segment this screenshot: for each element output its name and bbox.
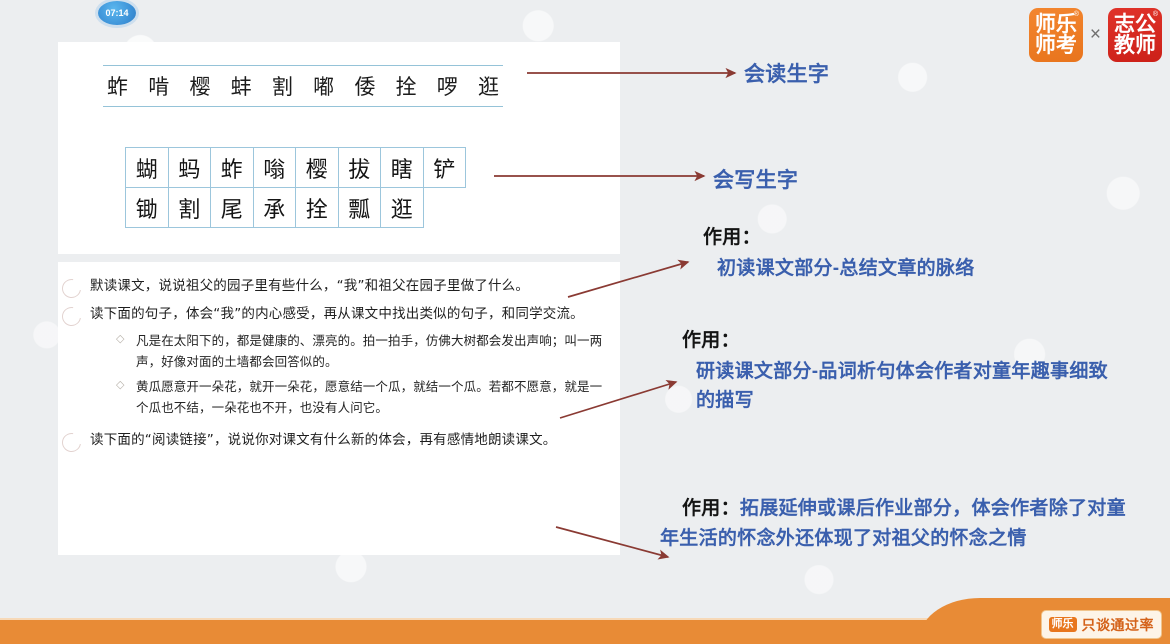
grid-cell: 拔 — [338, 147, 382, 188]
logo-right-line2: 教师 — [1114, 35, 1156, 56]
grid-row: 蝴蚂蚱嗡樱拔瞎铲 — [126, 148, 466, 188]
grid-cell: 割 — [168, 187, 212, 228]
grid-row: 锄割尾承拴瓢逛 — [126, 188, 466, 228]
grid-cell: 蝴 — [125, 147, 169, 188]
question-bullet-icon — [58, 303, 84, 329]
annotation-block-close-reading: 作用： 研读课文部分-品词析句体会作者对童年趣事细致的描写 — [682, 325, 1127, 416]
annotation-block-extension: 作用：拓展延伸或课后作业部分，体会作者除了对童年生活的怀念外还体现了对祖父的怀念… — [660, 494, 1140, 554]
read-char: 倭 — [354, 71, 375, 101]
example-sentence-text: 黄瓜愿意开一朵花，就开一朵花，愿意结一个瓜，就结一个瓜。若都不愿意，就是一个瓜也… — [136, 376, 612, 418]
logo-right-line1: 志公 — [1114, 14, 1156, 35]
grid-cell: 嗡 — [253, 147, 297, 188]
question-text: 默读课文，说说祖父的园子里有些什么，“我”和祖父在园子里做了什么。 — [90, 276, 612, 298]
bottom-badge-text: 只谈通过率 — [1082, 615, 1155, 635]
timer-badge: 07:14 — [98, 1, 136, 25]
read-char: 逛 — [478, 71, 499, 101]
read-char: 蚌 — [231, 71, 252, 101]
read-char: 嘟 — [313, 71, 334, 101]
example-sentence-text: 凡是在太阳下的，都是健康的、漂亮的。拍一拍手，仿佛大树都会发出声响；叫一两声，好… — [136, 330, 612, 372]
annotation-label: 作用： — [682, 325, 1127, 352]
logo-left-line1: 师乐 — [1035, 14, 1077, 35]
grid-cell: 瓢 — [338, 187, 382, 228]
read-char: 割 — [272, 71, 293, 101]
question-list: 默读课文，说说祖父的园子里有些什么，“我”和祖父在园子里做了什么。读下面的句子，… — [62, 276, 612, 458]
annotation-write-chars: 会写生字 — [713, 164, 798, 194]
grid-cell: 逛 — [380, 187, 424, 228]
logo-group: ® 师乐 师考 × ® 志公 教师 — [1029, 8, 1162, 62]
logo-shile-shikao: ® 师乐 师考 — [1029, 8, 1083, 62]
diamond-bullet-icon: ◇ — [116, 334, 128, 345]
read-char: 啰 — [437, 71, 458, 101]
question-text: 读下面的“阅读链接”，说说你对课文有什么新的体会，再有感情地朗读课文。 — [90, 430, 612, 452]
diamond-bullet-icon: ◇ — [116, 380, 128, 391]
read-char: 蚱 — [107, 71, 128, 101]
question-bullet-icon — [58, 275, 84, 301]
question-item: 默读课文，说说祖父的园子里有些什么，“我”和祖父在园子里做了什么。 — [62, 276, 612, 298]
grid-cell: 蚂 — [168, 147, 212, 188]
grid-cell: 瞎 — [380, 147, 424, 188]
grid-cell: 承 — [253, 187, 297, 228]
grid-cell: 拴 — [295, 187, 339, 228]
question-item: 读下面的句子，体会“我”的内心感受，再从课文中找出类似的句子，和同学交流。◇凡是… — [62, 304, 612, 424]
example-sentence-list: ◇凡是在太阳下的，都是健康的、漂亮的。拍一拍手，仿佛大树都会发出声响；叫一两声，… — [116, 330, 612, 418]
annotation-label: 作用： — [682, 498, 740, 519]
bottom-badge-mark: 师乐 — [1049, 617, 1077, 632]
question-text: 读下面的句子，体会“我”的内心感受，再从课文中找出类似的句子，和同学交流。 — [90, 304, 612, 326]
read-char: 拴 — [396, 71, 417, 101]
example-sentence-item: ◇凡是在太阳下的，都是健康的、漂亮的。拍一拍手，仿佛大树都会发出声响；叫一两声，… — [116, 330, 612, 372]
question-bullet-icon — [58, 429, 84, 455]
grid-cell: 樱 — [295, 147, 339, 188]
example-sentence-item: ◇黄瓜愿意开一朵花，就开一朵花，愿意结一个瓜，就结一个瓜。若都不愿意，就是一个瓜… — [116, 376, 612, 418]
readable-characters-row: 蚱啃樱蚌割嘟倭拴啰逛 — [103, 65, 503, 107]
annotation-read-chars: 会读生字 — [744, 58, 829, 88]
annotation-label: 作用： — [703, 222, 1133, 249]
writable-characters-grid: 蝴蚂蚱嗡樱拔瞎铲锄割尾承拴瓢逛 — [126, 148, 466, 228]
logo-separator: × — [1090, 24, 1101, 46]
logo-left-line2: 师考 — [1035, 35, 1077, 56]
grid-cell: 锄 — [125, 187, 169, 228]
bottom-watermark-badge: 师乐 只谈通过率 — [1041, 610, 1163, 639]
grid-cell: 铲 — [423, 147, 467, 188]
registered-mark-icon: ® — [1074, 11, 1079, 18]
grid-cell: 尾 — [210, 187, 254, 228]
logo-zhigong-jiaoshi: ® 志公 教师 — [1108, 8, 1162, 62]
question-item: 读下面的“阅读链接”，说说你对课文有什么新的体会，再有感情地朗读课文。 — [62, 430, 612, 452]
registered-mark-icon: ® — [1153, 11, 1158, 18]
annotation-body: 研读课文部分-品词析句体会作者对童年趣事细致的描写 — [696, 358, 1127, 416]
grid-cell: 蚱 — [210, 147, 254, 188]
read-char: 樱 — [189, 71, 210, 101]
annotation-body: 初读课文部分-总结文章的脉络 — [717, 255, 1133, 284]
annotation-block-first-reading: 作用： 初读课文部分-总结文章的脉络 — [703, 222, 1133, 284]
slide-canvas: 07:14 ® 师乐 师考 × ® 志公 教师 蚱啃樱蚌割嘟倭拴啰逛 蝴蚂蚱嗡樱… — [0, 0, 1170, 644]
read-char: 啃 — [148, 71, 169, 101]
